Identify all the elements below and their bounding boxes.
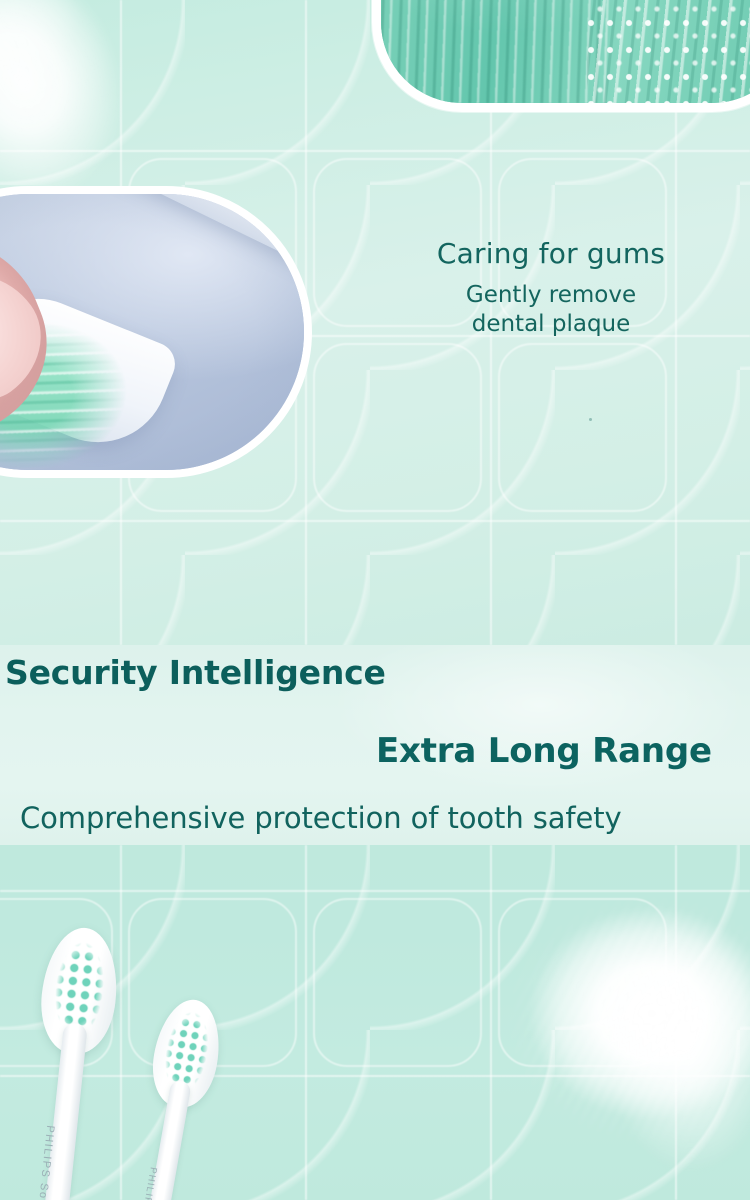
caring-for-gums-headline: Caring for gums — [386, 236, 716, 271]
section-security-intelligence-banner: Security Intelligence Extra Long Range C… — [0, 645, 750, 845]
card-highlight — [381, 0, 750, 103]
section-caring-for-gums: PHILIPS Caring for gums Gently remove de… — [0, 0, 750, 645]
caring-for-gums-subline: Gently remove dental plaque — [386, 281, 716, 340]
banner-subtitle: Comprehensive protection of tooth safety — [20, 801, 622, 835]
feather-decoration-bottom-right — [460, 855, 750, 1185]
subline-1: Gently remove — [386, 281, 716, 310]
bristle-macro-card — [372, 0, 750, 112]
subline-2: dental plaque — [386, 310, 716, 339]
section-brush-heads — [0, 845, 750, 1200]
product-marketing-page: PHILIPS Caring for gums Gently remove de… — [0, 0, 750, 1200]
card-vignette — [0, 194, 304, 470]
banner-title-security-intelligence: Security Intelligence — [5, 653, 386, 692]
banner-title-extra-long-range: Extra Long Range — [376, 731, 712, 771]
decorative-dot — [589, 418, 592, 421]
caring-for-gums-text-block: Caring for gums Gently remove dental pla… — [386, 236, 716, 340]
finger-on-bristles-card: PHILIPS — [0, 186, 312, 478]
banner-soft-highlight — [330, 645, 750, 795]
